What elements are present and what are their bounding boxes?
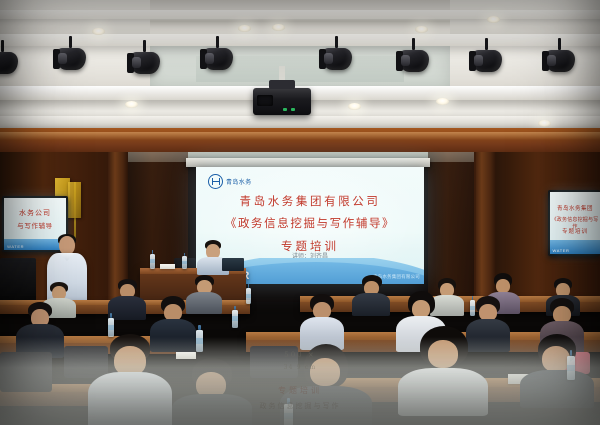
slide-line-1: 青岛水务集团有限公司 (196, 193, 424, 209)
slide-logo-text: 青岛水务 (226, 177, 252, 186)
laptop[interactable] (222, 258, 244, 271)
water-bottle (182, 256, 187, 269)
ceiling-projector (253, 88, 311, 115)
photo-scene: 水务公司 与写作辅导 WATER 青岛水务集团 《政务信息挖掘与写作 专题培训 … (0, 0, 600, 425)
water-bottle (108, 318, 114, 337)
right-display-brand: WATER (553, 248, 570, 253)
left-display-line1: 水务公司 (4, 208, 66, 218)
slide-line-3: 专题培训 (196, 238, 424, 254)
ceiling (0, 0, 600, 132)
left-display-line2: 与写作辅导 (4, 220, 66, 230)
stage-light-icon (545, 46, 575, 76)
stage-light-icon (472, 46, 502, 76)
ceiling-beam (0, 10, 600, 19)
water-bottle (196, 330, 203, 352)
downlight-icon (348, 103, 361, 110)
right-display-line3: 专题培训 (550, 227, 600, 235)
stage-light-icon (322, 44, 352, 74)
screen-valance (186, 158, 430, 167)
downlight-icon (436, 98, 449, 105)
audience-member-foreground (280, 352, 372, 425)
paper-sheet (160, 264, 175, 269)
ceremonial-flag (68, 182, 81, 218)
downlight-icon (238, 25, 251, 32)
stage-light-icon (0, 48, 18, 78)
chair-back (0, 352, 52, 392)
right-display-line1: 青岛水务集团 (550, 204, 600, 212)
water-bottle (150, 254, 155, 269)
water-group-logo-icon (208, 174, 223, 189)
downlight-icon (272, 24, 285, 31)
water-bottle (232, 310, 238, 328)
audience-member (16, 306, 64, 356)
stage-light-icon (130, 48, 160, 78)
right-display-band: WATER (550, 240, 600, 254)
water-bottle (284, 404, 293, 425)
left-display-brand: WATER (7, 244, 24, 249)
slide-logo: 青岛水务 (208, 174, 252, 189)
downlight-icon (487, 16, 500, 23)
stage-light-icon (56, 44, 86, 74)
downlight-icon (92, 28, 105, 35)
stage-light-icon (399, 46, 429, 76)
slide-title-block: 青岛水务集团有限公司 《政务信息挖掘与写作辅导》 专题培训 (196, 193, 424, 254)
paper-sheet (176, 352, 196, 359)
audience-member (352, 278, 390, 314)
pa-speaker (0, 258, 36, 304)
ceiling-beam (0, 34, 600, 46)
audience-member (300, 298, 344, 348)
downlight-icon (125, 101, 138, 108)
audience-member-foreground (398, 334, 488, 412)
slide-line-2: 《政务信息挖掘与写作辅导》 (196, 215, 424, 231)
stage-light-icon (203, 44, 233, 74)
audience-member-foreground (88, 340, 172, 425)
downlight-icon (415, 26, 428, 33)
downlight-icon (538, 120, 551, 127)
audience-member-foreground (520, 340, 594, 404)
audience-member-foreground (172, 364, 252, 425)
water-bottle (567, 356, 575, 380)
water-bottle (246, 288, 251, 304)
audience-member (108, 282, 146, 318)
right-side-display[interactable]: 青岛水务集团 《政务信息挖掘与写作 专题培训 WATER (550, 192, 600, 254)
